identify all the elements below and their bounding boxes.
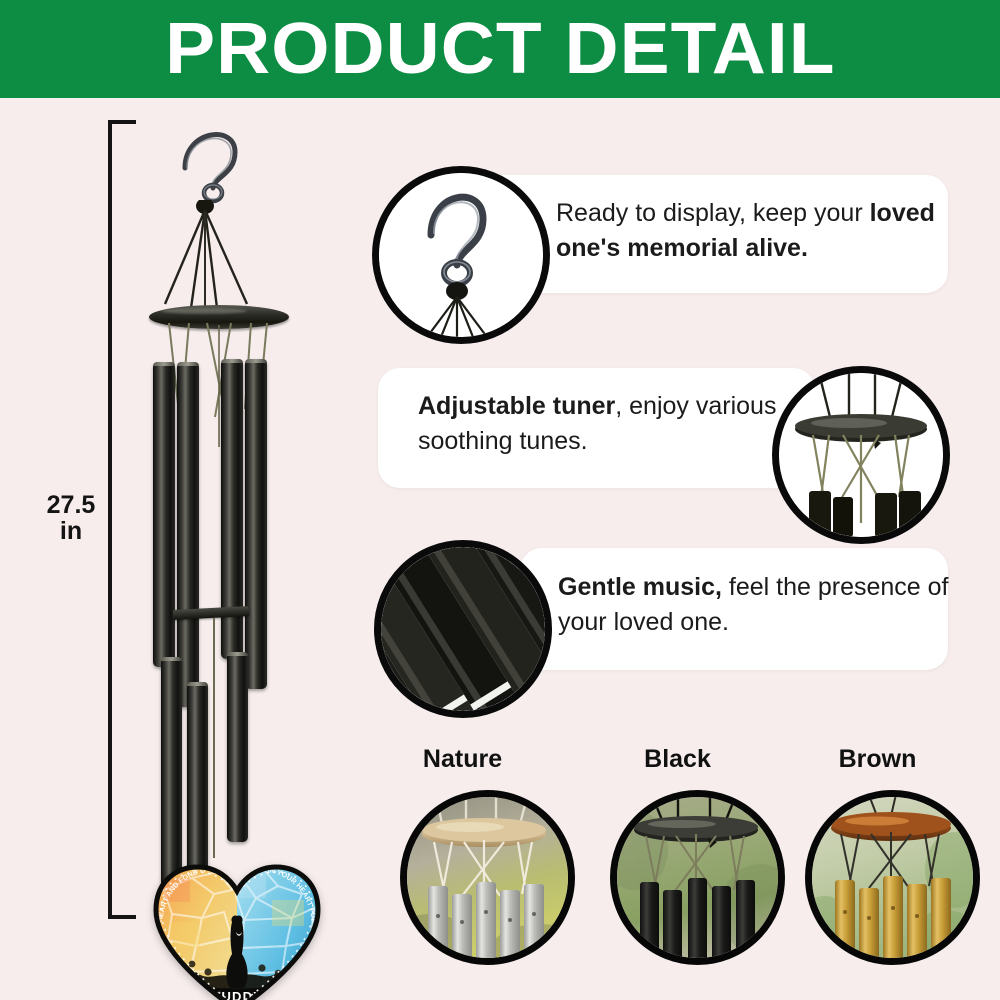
- chime-tube: [227, 652, 248, 842]
- variant-label-black: Black: [590, 745, 765, 774]
- dimension-label: 27.5 in: [36, 492, 106, 544]
- feature-text-ready-to-display: Ready to display, keep your loved one's …: [556, 196, 946, 266]
- s-hook-icon: [163, 112, 273, 212]
- variant-image-nature[interactable]: [400, 790, 575, 965]
- bracket-vertical-line: [108, 120, 112, 919]
- pendant-drop-string: [213, 618, 215, 858]
- variant-label-nature: Nature: [375, 745, 550, 774]
- variant-image-black[interactable]: [610, 790, 785, 965]
- feature-image-s-hook: [372, 166, 550, 344]
- dimension-value: 27.5: [36, 492, 106, 518]
- variant-image-brown[interactable]: [805, 790, 980, 965]
- page-title: PRODUCT DETAIL: [165, 13, 835, 85]
- variant-label-brown: Brown: [790, 745, 965, 774]
- feature-bold: Adjustable tuner: [418, 392, 615, 420]
- feature-lead: Ready to display, keep your: [556, 199, 870, 227]
- dimension-unit: in: [36, 518, 106, 544]
- chime-tube: [245, 359, 267, 689]
- bracket-top-tick: [108, 120, 136, 124]
- feature-text-gentle-music: Gentle music, feel the presence of your …: [558, 570, 950, 640]
- chime-tube: [153, 362, 175, 667]
- dimension-bracket: [108, 120, 136, 919]
- header-banner: PRODUCT DETAIL: [0, 0, 1000, 98]
- feature-text-adjustable-tuner: Adjustable tuner, enjoy various soothing…: [418, 389, 788, 459]
- main-product-photo: BUDDY 2012-2023 HEART AND FOND OF ME IN …: [135, 112, 340, 922]
- feature-bold: Gentle music,: [558, 573, 722, 601]
- feature-image-tubes: [374, 540, 552, 718]
- heart-pendant: BUDDY 2012-2023 HEART AND FOND OF ME IN …: [130, 852, 345, 1000]
- product-detail-infographic: PRODUCT DETAIL 27.5 in: [0, 0, 1000, 1000]
- chime-tube: [177, 362, 199, 707]
- hanging-cords: [155, 200, 295, 318]
- feature-image-tuner: [772, 366, 950, 544]
